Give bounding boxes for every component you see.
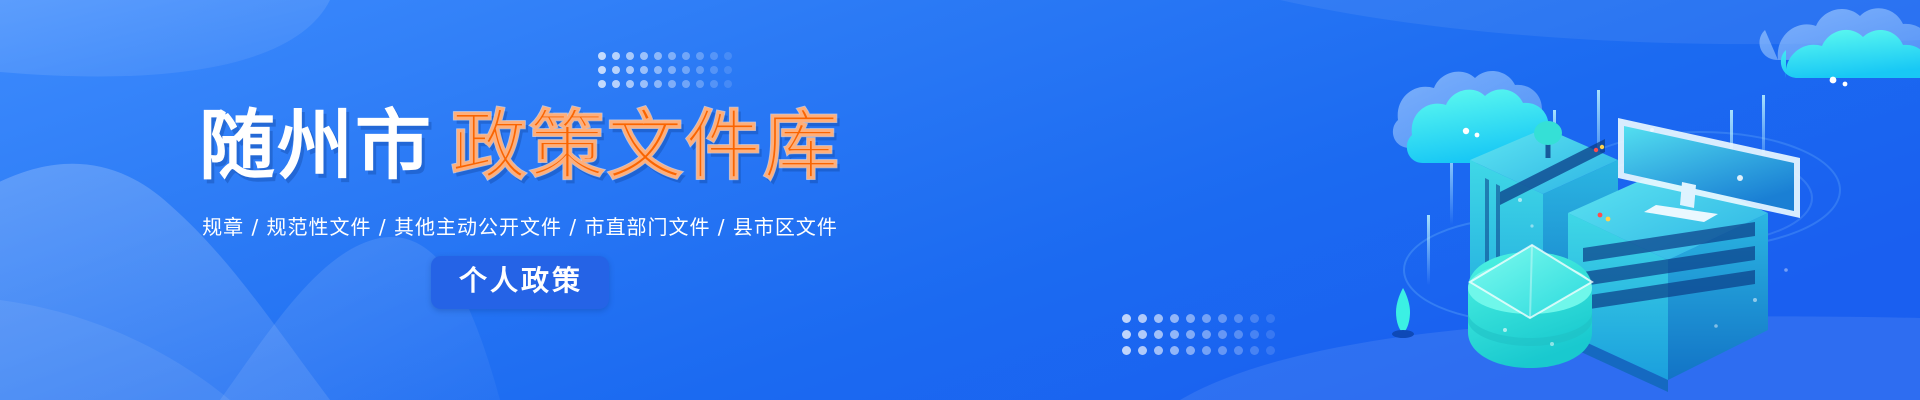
grid-dot xyxy=(1170,314,1179,323)
page-title: 随州市政策文件库 xyxy=(0,108,1040,184)
grid-dot xyxy=(1234,330,1243,339)
grid-dot xyxy=(1186,314,1195,323)
particle-1 xyxy=(1518,198,1522,202)
particle-2 xyxy=(1530,224,1533,227)
cta-container: 个人政策 xyxy=(0,256,1040,309)
banner-subtitle: 规章 / 规范性文件 / 其他主动公开文件 / 市直部门文件 / 县市区文件 xyxy=(0,211,1040,240)
grid-dot xyxy=(1122,346,1131,355)
particle-4 xyxy=(1714,324,1718,328)
grid-dot xyxy=(1202,330,1211,339)
grid-dot xyxy=(1250,314,1259,323)
monitor-stand-neck xyxy=(1680,182,1696,208)
tower-left-led-1 xyxy=(1594,148,1598,152)
grid-dot xyxy=(1122,330,1131,339)
particle-6 xyxy=(1650,128,1654,132)
grid-dot xyxy=(1170,346,1179,355)
grid-dot xyxy=(1202,346,1211,355)
grid-dot xyxy=(1170,330,1179,339)
tower-right-led-1 xyxy=(1598,213,1603,218)
isometric-illustration xyxy=(1300,0,1920,400)
cylinder-dot-2 xyxy=(1550,342,1554,346)
tree-base xyxy=(1392,330,1414,338)
grid-dot xyxy=(1138,314,1147,323)
grid-dot xyxy=(1266,346,1275,355)
tower-left-led-2 xyxy=(1600,145,1604,149)
grid-dot xyxy=(1266,314,1275,323)
particle-5 xyxy=(1784,268,1788,272)
particle-3 xyxy=(1753,298,1757,302)
illustration-svg xyxy=(1300,0,1920,400)
grid-dot xyxy=(1154,314,1163,323)
grid-dot xyxy=(1266,330,1275,339)
grid-dot xyxy=(1250,330,1259,339)
cloud-right-icon xyxy=(1759,8,1920,86)
grid-dot xyxy=(1154,346,1163,355)
grid-dot xyxy=(1138,346,1147,355)
page-title-white-part: 随州市 xyxy=(199,101,433,190)
tree-foliage xyxy=(1396,288,1410,332)
cloud-left-eye-2 xyxy=(1475,133,1480,138)
database-cylinder-icon xyxy=(1468,245,1592,368)
grid-dot xyxy=(1154,330,1163,339)
grid-dot xyxy=(1138,330,1147,339)
grid-dot xyxy=(1234,314,1243,323)
personal-policy-button[interactable]: 个人政策 xyxy=(431,256,609,309)
cloud-left-eye-1 xyxy=(1463,128,1469,134)
dot-grid-bottom xyxy=(1122,314,1282,362)
tower-right-led-2 xyxy=(1606,217,1611,222)
cloud-right-eye-2 xyxy=(1843,82,1848,87)
banner-content: 随州市政策文件库 规章 / 规范性文件 / 其他主动公开文件 / 市直部门文件 … xyxy=(0,0,1040,400)
grid-dot xyxy=(1250,346,1259,355)
policy-library-banner: 随州市政策文件库 规章 / 规范性文件 / 其他主动公开文件 / 市直部门文件 … xyxy=(0,0,1920,400)
grid-dot xyxy=(1218,314,1227,323)
grid-dot xyxy=(1202,314,1211,323)
grid-dot xyxy=(1218,330,1227,339)
tree-icon xyxy=(1392,288,1414,338)
grid-dot xyxy=(1122,314,1131,323)
grid-dot xyxy=(1218,346,1227,355)
cylinder-dot-1 xyxy=(1503,328,1507,332)
cloud-right-eye-1 xyxy=(1830,77,1837,84)
grid-dot xyxy=(1186,346,1195,355)
page-title-orange-part: 政策文件库 xyxy=(451,101,841,190)
tower-left-knob xyxy=(1534,121,1562,145)
grid-dot xyxy=(1186,330,1195,339)
light-beam-7 xyxy=(1427,215,1430,285)
grid-dot xyxy=(1234,346,1243,355)
monitor-highlight xyxy=(1737,175,1743,181)
